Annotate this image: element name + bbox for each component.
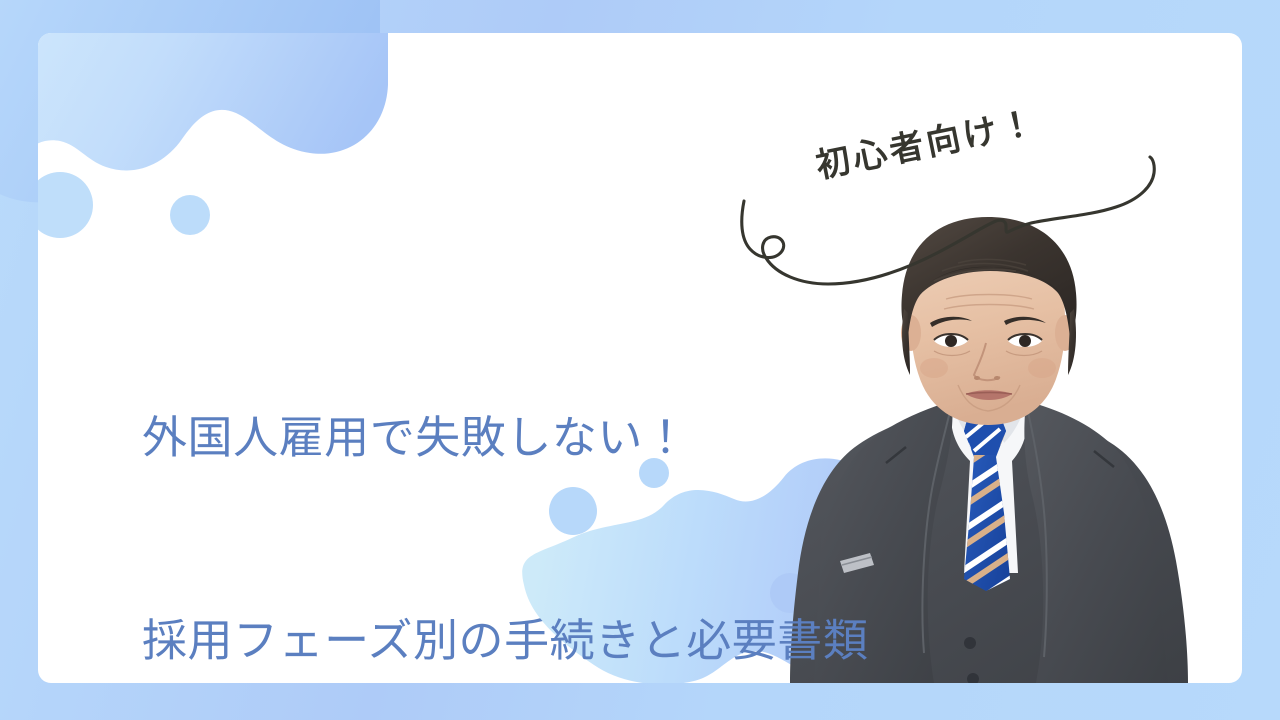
headline-line-2: 採用フェーズ別の手続きと必要書類 xyxy=(142,607,868,675)
badge-label: 初心者向け！ xyxy=(811,80,1115,188)
cloud-blob-top-left xyxy=(38,33,388,253)
cheek-shadow xyxy=(920,358,948,378)
blob-dot xyxy=(170,195,210,235)
blob-dot xyxy=(38,172,93,238)
headline-line-1: 外国人雇用で失敗しない！ xyxy=(142,404,868,472)
slide-canvas: 外国人雇用で失敗しない！ 採用フェーズ別の手続きと必要書類 初心者向け！ xyxy=(0,0,1280,720)
content-card: 外国人雇用で失敗しない！ 採用フェーズ別の手続きと必要書類 初心者向け！ xyxy=(38,33,1242,683)
jacket-button xyxy=(964,637,976,649)
cheek-shadow xyxy=(1028,358,1056,378)
headline: 外国人雇用で失敗しない！ 採用フェーズ別の手続きと必要書類 xyxy=(142,269,868,683)
